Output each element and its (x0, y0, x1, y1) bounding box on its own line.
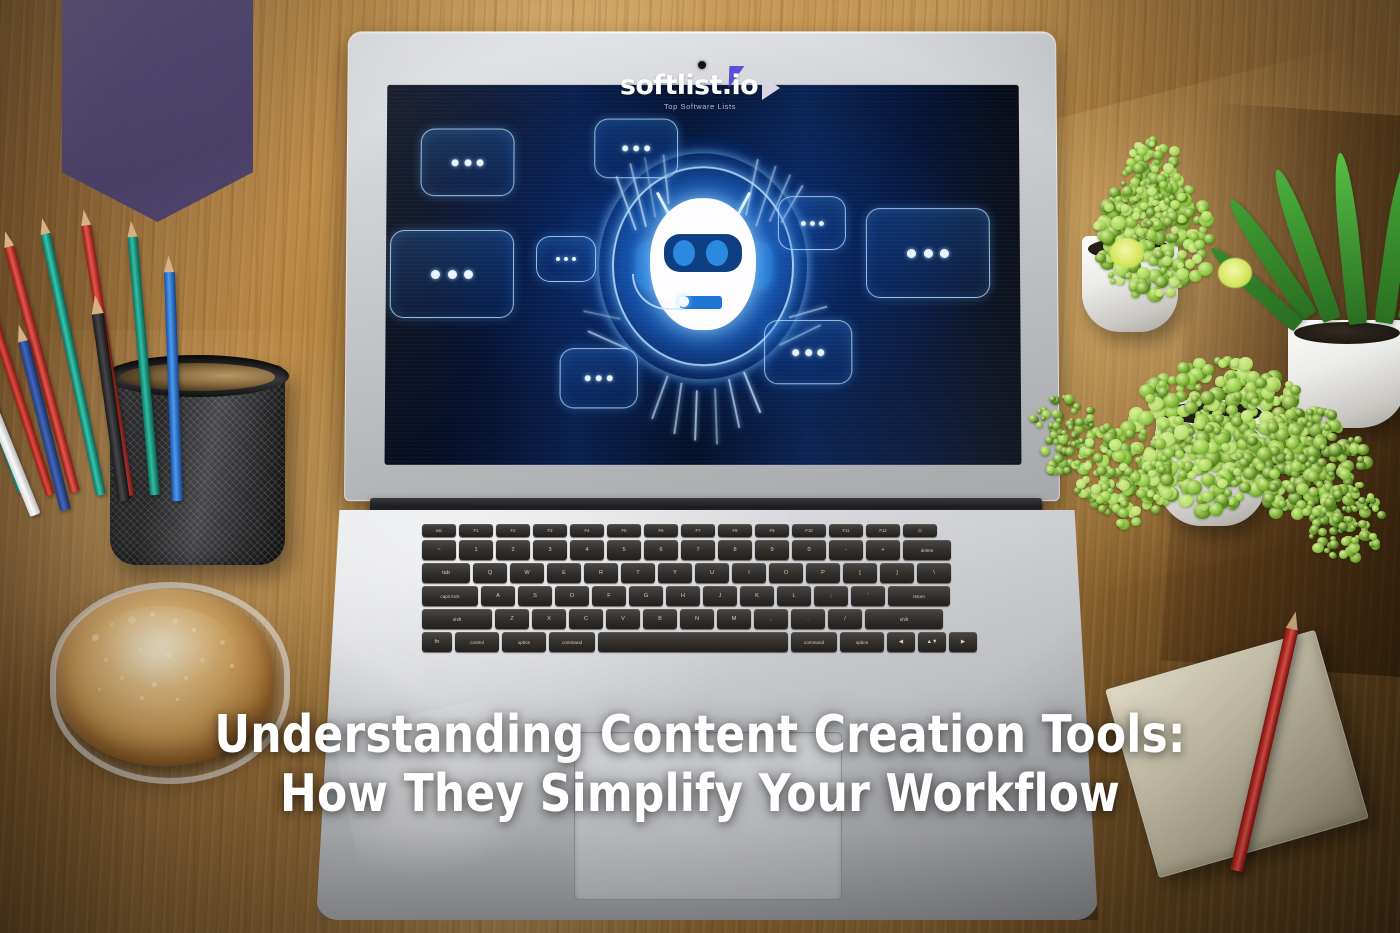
plant-leaf (1176, 373, 1190, 385)
plant-leaf (1218, 359, 1228, 368)
plant-leaf (1134, 444, 1143, 452)
typing-dot-icon (633, 145, 639, 151)
plant-leaf (1188, 471, 1196, 478)
plant-leaf (1327, 410, 1337, 419)
plant-leaf (1155, 212, 1161, 218)
chat-bubble (866, 208, 990, 298)
typing-dot-icon (564, 257, 568, 261)
plant-leaf (1255, 378, 1266, 388)
typing-dot-icon (818, 221, 823, 226)
logo-wordmark: softlist.io (620, 72, 758, 99)
plant-leaf (1154, 438, 1166, 449)
keyboard-key[interactable]: S (518, 586, 552, 606)
typing-dot-icon (805, 349, 812, 356)
plant-leaf (1328, 471, 1334, 477)
plant-leaf (1074, 460, 1080, 466)
plant-leaf (1339, 550, 1348, 558)
keyboard-key[interactable]: fn (422, 632, 452, 652)
keyboard-key[interactable]: F1 (459, 524, 493, 537)
plant-leaf (1325, 498, 1334, 506)
keyboard-key[interactable]: ◀ (887, 632, 915, 652)
typing-dot-icon (622, 145, 628, 151)
plant-leaf (1317, 458, 1327, 467)
plant-leaf (1160, 421, 1168, 428)
plant-leaf (1041, 447, 1050, 456)
keyboard-key[interactable]: 0 (792, 540, 826, 560)
typing-dot-icon (585, 375, 591, 381)
plant-leaf (1226, 378, 1242, 393)
keyboard-key[interactable]: V (606, 609, 640, 629)
keyboard-key[interactable]: 7 (681, 540, 715, 560)
keyboard-row: shiftZXCVBNM,./shift (422, 609, 943, 629)
plant-leaf (1154, 206, 1160, 212)
keyboard-key[interactable]: , (754, 609, 788, 629)
keyboard-key[interactable]: L (777, 586, 811, 606)
keyboard-key[interactable]: return (888, 586, 950, 606)
plant-leaf (1233, 468, 1241, 476)
plant-leaf (1198, 262, 1213, 276)
keyboard-key[interactable]: Q (473, 563, 507, 583)
plant-leaf (1096, 496, 1105, 504)
keyboard-key[interactable]: R (584, 563, 618, 583)
plant-leaf (1201, 491, 1213, 502)
plant-flower (1218, 258, 1252, 288)
plant-leaf (1191, 395, 1199, 402)
plant-leaf (1158, 194, 1164, 199)
plant-leaf (1140, 202, 1149, 210)
plant-leaf (1235, 493, 1244, 501)
keyboard-key[interactable]: K (740, 586, 774, 606)
keyboard-key[interactable]: ▲▼ (918, 632, 946, 652)
plant-leaf (1098, 505, 1107, 513)
plant-leaf (1131, 506, 1141, 515)
typing-dot-icon (556, 257, 560, 261)
keyboard-key[interactable]: command (549, 632, 595, 652)
keyboard-key[interactable]: ' (851, 586, 885, 606)
keyboard-key[interactable]: control (455, 632, 499, 652)
plant-leaf (1269, 469, 1280, 479)
plant-leaf (1140, 181, 1145, 186)
plant-leaf (1329, 527, 1338, 535)
typing-dot-icon (817, 349, 824, 356)
keyboard-key[interactable]: M (717, 609, 751, 629)
plant-leaf (1155, 276, 1168, 288)
keyboard-key[interactable]: . (791, 609, 825, 629)
typing-dot-icon (447, 269, 456, 278)
plant-leaf (1369, 533, 1377, 540)
keyboard-key[interactable]: J (703, 586, 737, 606)
plant-leaf (1306, 409, 1313, 416)
typing-dot-icon (644, 145, 650, 151)
plant-leaf (1285, 409, 1296, 419)
plant-leaf (1352, 506, 1358, 511)
plant-leaf (1053, 454, 1063, 463)
logo-tagline: Top Software Lists (0, 102, 1400, 111)
page-title-line-2: How They Simplify Your Workflow (42, 765, 1358, 824)
plant-leaf (1238, 357, 1253, 371)
plant-leaf (1063, 467, 1071, 475)
typing-dot-icon (923, 249, 932, 258)
plant-leaf (1093, 453, 1103, 462)
keyboard-key[interactable]: I (732, 563, 766, 583)
plant-leaf (1204, 234, 1215, 244)
keyboard-key[interactable]: [ (843, 563, 877, 583)
plant-leaf (1175, 450, 1184, 458)
keyboard-key[interactable]: delete (903, 540, 951, 560)
plant-leaf (1163, 163, 1173, 173)
keyboard-key[interactable]: caps lock (422, 586, 478, 606)
plant-leaf (1121, 181, 1126, 186)
plant-leaf (1201, 473, 1215, 486)
plant-leaf (1332, 516, 1339, 523)
plant-leaf (1110, 278, 1116, 284)
keyboard-key[interactable]: tab (422, 563, 470, 583)
webcam-icon (698, 61, 706, 69)
plant-leaf (1312, 543, 1324, 554)
typing-dot-icon (596, 375, 602, 381)
keyboard-key[interactable]: F2 (496, 524, 530, 537)
pencil-cup-group (0, 215, 320, 635)
screenshot-canvas: escF1F2F3F4F5F6F7F8F9F10F11F12⏻~12345678… (0, 0, 1400, 933)
plant-leaf (1091, 484, 1102, 494)
plant-leaf (1177, 193, 1186, 201)
keyboard-key[interactable]: 9 (755, 540, 789, 560)
plant-leaf (1184, 208, 1195, 218)
laptop-screen (385, 85, 1022, 465)
plant-leaf (1179, 494, 1194, 507)
keyboard-key[interactable]: F12 (866, 524, 900, 537)
plant-leaf (1239, 482, 1251, 493)
plant-leaf (1101, 447, 1108, 453)
plant-leaf (1103, 423, 1111, 431)
plant-leaf (1058, 435, 1068, 444)
keyboard-row: tabQWERTYUIOP[]\ (422, 563, 951, 583)
plant-leaf (1100, 230, 1114, 243)
chat-bubble (536, 236, 596, 282)
plant-leaf (1071, 441, 1077, 447)
keyboard-key[interactable]: D (555, 586, 589, 606)
laptop-keyboard[interactable]: escF1F2F3F4F5F6F7F8F9F10F11F12⏻~12345678… (422, 524, 1012, 714)
keyboard-key[interactable]: shift (865, 609, 943, 629)
plant-leaf (1263, 493, 1275, 504)
plant-leaf (1068, 425, 1073, 430)
chat-bubble (778, 196, 846, 250)
plant-flower (1110, 238, 1144, 268)
plant-leaf (1075, 418, 1084, 426)
plant-leaf (1095, 253, 1106, 263)
plant-leaf (1230, 359, 1239, 367)
plant-leaf (1341, 537, 1350, 545)
plant-leaf (1116, 278, 1124, 286)
plant-leaf (1076, 479, 1086, 489)
keyboard-key[interactable]: ▶ (949, 632, 977, 652)
plant-leaf (1149, 141, 1155, 147)
plant-leaf (1265, 378, 1279, 391)
keyboard-key[interactable]: F (592, 586, 626, 606)
plant-leaf (1160, 267, 1167, 274)
pen-tip (126, 221, 137, 238)
keyboard-key[interactable]: ] (880, 563, 914, 583)
keyboard-key[interactable]: P (806, 563, 840, 583)
plant-leaf (1169, 146, 1180, 156)
keyboard-key[interactable]: F11 (829, 524, 863, 537)
plant-leaf (1185, 259, 1195, 268)
plant-leaf (1200, 391, 1215, 405)
keyboard-key[interactable]: \ (917, 563, 951, 583)
plant-leaf (1151, 505, 1161, 514)
pen-tip (89, 294, 104, 314)
plant-leaf (1133, 163, 1145, 174)
keyboard-key[interactable]: F8 (718, 524, 752, 537)
keyboard-key[interactable]: O (769, 563, 803, 583)
keyboard-key[interactable]: F6 (644, 524, 678, 537)
plant-leaf (1198, 459, 1212, 472)
keyboard-key[interactable]: + (866, 540, 900, 560)
plant-leaf (1174, 416, 1184, 425)
plant-leaf (1093, 222, 1101, 230)
keyboard-key[interactable]: E (547, 563, 581, 583)
keyboard-key[interactable]: option (502, 632, 546, 652)
plant-leaf (1064, 394, 1074, 403)
robot-eye-left-icon (673, 240, 695, 266)
typing-dot-icon (464, 269, 473, 278)
plant-leaf (1328, 443, 1343, 457)
pen-tip (163, 254, 174, 271)
plant-leaf (1320, 518, 1325, 523)
keyboard-key[interactable]: - (829, 540, 863, 560)
plant-leaf (1122, 186, 1133, 196)
keyboard-key[interactable]: 6 (644, 540, 678, 560)
plant-leaf (1166, 288, 1176, 297)
keyboard-key[interactable]: N (680, 609, 714, 629)
keyboard-key[interactable]: Y (658, 563, 692, 583)
keyboard-key[interactable]: F9 (755, 524, 789, 537)
typing-dot-icon (464, 159, 471, 166)
plant-leaf (1257, 447, 1272, 460)
plant-leaf (1377, 511, 1386, 519)
plant-leaf (1130, 178, 1140, 187)
keyboard-key[interactable]: F5 (607, 524, 641, 537)
plant-leaf (1296, 483, 1309, 495)
keyboard-key[interactable]: 1 (459, 540, 493, 560)
keyboard-key[interactable]: 3 (533, 540, 567, 560)
page-title: Understanding Content Creation Tools: Ho… (42, 706, 1358, 825)
chat-bubble (594, 119, 678, 179)
plant-leaf (1125, 166, 1133, 173)
plant-leaf (1186, 480, 1202, 495)
plant-leaf (1354, 436, 1362, 443)
plant-soil (1294, 322, 1400, 344)
plant-leaf (1227, 370, 1234, 377)
plant-leaf (1065, 447, 1075, 456)
plant-leaf (1118, 508, 1129, 518)
plant-leaf (1136, 187, 1144, 194)
plant-leaf (1251, 398, 1259, 406)
plant-leaf (1285, 454, 1293, 461)
plant-leaf (1112, 450, 1126, 462)
keyboard-key[interactable]: 8 (718, 540, 752, 560)
keyboard-key[interactable]: option (840, 632, 884, 652)
plant-leaf (1029, 415, 1037, 422)
keyboard-key[interactable]: H (666, 586, 700, 606)
page-title-line-1: Understanding Content Creation Tools: (214, 705, 1185, 765)
keyboard-key[interactable] (598, 632, 788, 652)
keyboard-key[interactable]: Z (495, 609, 529, 629)
chat-bubble (560, 348, 638, 408)
robot-eye-right-icon (706, 240, 728, 266)
keyboard-row: fncontroloptioncommandcommandoption◀▲▼▶ (422, 632, 977, 652)
keyboard-key[interactable]: ⏻ (903, 524, 937, 537)
keyboard-row: escF1F2F3F4F5F6F7F8F9F10F11F12⏻ (422, 524, 937, 537)
keyboard-key[interactable]: 5 (607, 540, 641, 560)
plant-leaf (1160, 474, 1174, 487)
plant-leaf (1318, 528, 1327, 536)
plant-leaf (1135, 457, 1142, 463)
plant-leaf (1316, 481, 1324, 488)
plant-leaf (1307, 471, 1319, 482)
plant-leaf (1096, 466, 1107, 476)
chatbot-robot-icon (640, 192, 766, 342)
typing-dot-icon (940, 249, 949, 258)
plant-leaf (1243, 467, 1257, 480)
keyboard-key[interactable]: T (621, 563, 655, 583)
plant-leaf (1372, 505, 1379, 512)
pen-tip (0, 230, 14, 248)
plant-leaf (1136, 228, 1145, 236)
typing-dot-icon (907, 249, 916, 258)
play-triangle-icon (762, 76, 780, 100)
chat-bubble (390, 230, 515, 318)
plant-leaf (1146, 220, 1153, 226)
plant-leaf (1136, 489, 1146, 498)
plant-leaf (1239, 458, 1249, 467)
keyboard-key[interactable]: esc (422, 524, 456, 537)
keyboard-key[interactable]: 2 (496, 540, 530, 560)
plant-leaf (1231, 480, 1238, 487)
plant-leaf (1078, 438, 1085, 444)
keyboard-key[interactable]: F4 (570, 524, 604, 537)
typing-dot-icon (809, 221, 814, 226)
plant-leaf (1136, 282, 1149, 294)
typing-dot-icon (451, 159, 458, 166)
plant-leaf (1153, 494, 1161, 501)
keyboard-key[interactable]: G (629, 586, 663, 606)
typing-dot-icon (477, 159, 484, 166)
plant-leaf (1333, 490, 1343, 499)
plant-leaf (1301, 418, 1308, 424)
keyboard-key[interactable]: 4 (570, 540, 604, 560)
keyboard-key[interactable]: F7 (681, 524, 715, 537)
plant-leaf (1339, 469, 1351, 480)
logo-row: softlist.io (620, 72, 780, 100)
plant-leaf (1174, 425, 1189, 439)
keyboard-key[interactable]: F10 (792, 524, 826, 537)
keyboard-key[interactable]: shift (422, 609, 492, 629)
typing-dot-icon (607, 375, 613, 381)
keyboard-key[interactable]: ~ (422, 540, 456, 560)
keyboard-row: caps lockASDFGHJKL;'return (422, 586, 950, 606)
plant-leaf (1071, 433, 1077, 438)
plant-leaf (1041, 416, 1046, 421)
keyboard-key[interactable]: A (481, 586, 515, 606)
plant-leaf (1107, 468, 1116, 476)
keyboard-key[interactable]: ; (814, 586, 848, 606)
plant-leaf (1241, 410, 1253, 421)
pen-tip (37, 217, 50, 235)
typing-dot-icon (792, 349, 799, 356)
plant-leaf (1269, 483, 1278, 491)
plant-leaf (1201, 211, 1211, 221)
keyboard-key[interactable]: B (643, 609, 677, 629)
plant-leaf (1295, 409, 1304, 417)
plant-leaf (1118, 480, 1130, 491)
softlist-logo[interactable]: softlist.io Top Software Lists (0, 72, 1400, 111)
robot-headset-boom-icon (632, 274, 684, 310)
typing-dot-icon (572, 257, 576, 261)
plant-leaf (1086, 414, 1094, 422)
plant-leaf (1049, 396, 1056, 402)
keyboard-row: ~1234567890-+delete (422, 540, 951, 560)
plant-leaf (1121, 204, 1129, 211)
keyboard-key[interactable]: / (828, 609, 862, 629)
plant-leaf (1085, 438, 1095, 447)
keyboard-key[interactable]: command (791, 632, 837, 652)
plant-leaf (1052, 410, 1060, 418)
keyboard-key[interactable]: C (569, 609, 603, 629)
keyboard-key[interactable]: W (510, 563, 544, 583)
typing-dot-icon (800, 221, 805, 226)
typing-dot-icon (431, 269, 440, 278)
keyboard-key[interactable]: X (532, 609, 566, 629)
plant-leaf (1086, 407, 1093, 413)
chat-bubble (764, 320, 852, 384)
keyboard-key[interactable]: F3 (533, 524, 567, 537)
plant-leaf (1367, 493, 1375, 500)
keyboard-key[interactable]: U (695, 563, 729, 583)
plant-leaf (1312, 508, 1320, 516)
chat-bubble (420, 129, 514, 197)
